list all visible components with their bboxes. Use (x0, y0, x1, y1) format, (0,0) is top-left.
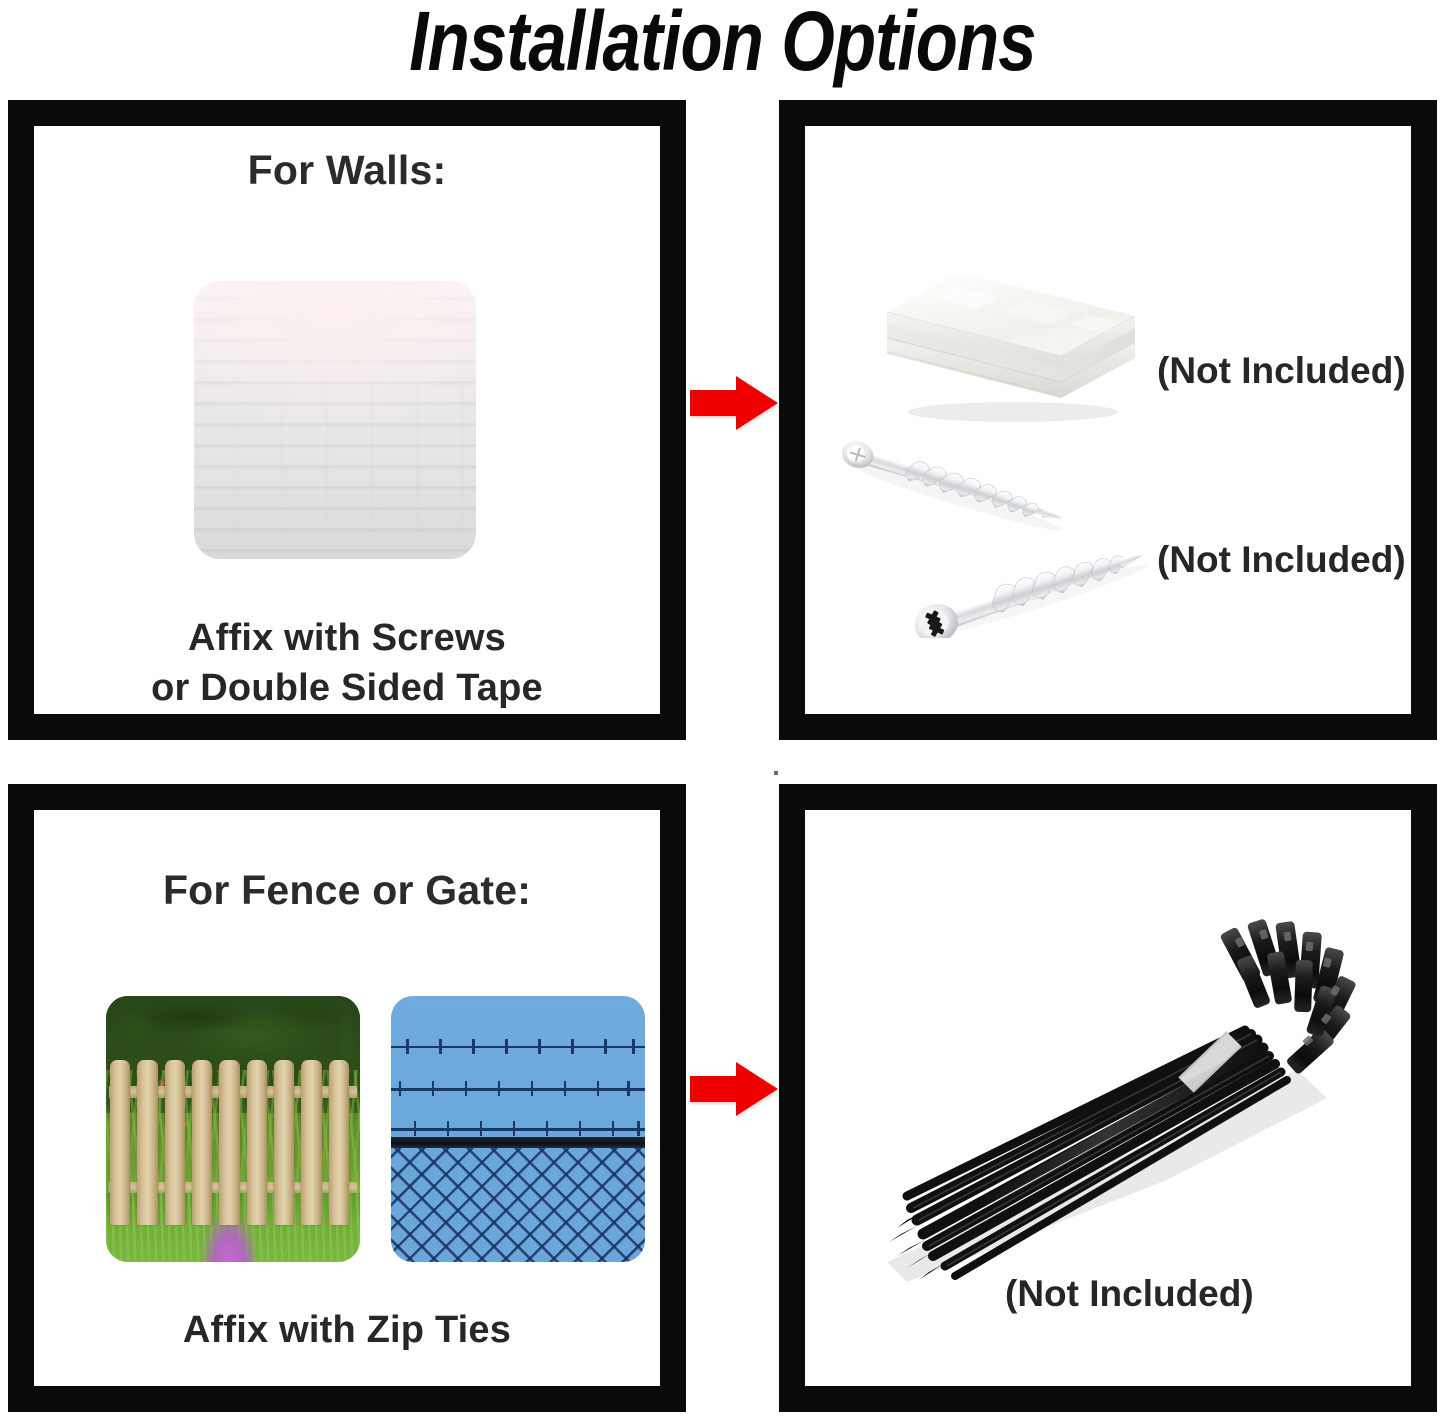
wire-barb (447, 1121, 449, 1136)
wire-barb (571, 1039, 573, 1054)
panel-wall-hardware: (Not Included) (779, 100, 1437, 740)
wire-barb (505, 1039, 507, 1054)
wire-strand (391, 1128, 645, 1130)
black-zip-tie-bundle-image (827, 890, 1357, 1310)
wood-fence-scene (106, 996, 360, 1262)
for-walls-heading: For Walls: (34, 146, 660, 194)
wire-barb (627, 1081, 629, 1096)
wire-barb (632, 1039, 634, 1054)
double-sided-tape-stack-image (873, 246, 1143, 426)
for-fence-heading: For Fence or Gate: (34, 866, 660, 914)
wire-barb (513, 1121, 515, 1136)
wire-barb (531, 1081, 533, 1096)
wire-barb (546, 1121, 548, 1136)
wire-strand (391, 1046, 645, 1048)
wire-barb (637, 1121, 639, 1136)
panel-for-walls-inner: For Walls: Affix with Screws or Double S… (34, 126, 660, 714)
fence-picket (301, 1060, 321, 1225)
wire-barb (538, 1039, 540, 1054)
wire-barb (612, 1121, 614, 1136)
fence-picket (247, 1060, 267, 1225)
wire-barb (472, 1039, 474, 1054)
panel-fence-hardware: (Not Included) (779, 784, 1437, 1412)
wire-barb (432, 1081, 434, 1096)
fence-picket (165, 1060, 185, 1225)
wire-strand (391, 1088, 645, 1090)
chain-link-mesh (391, 1148, 645, 1262)
wall-light-wash (194, 281, 476, 559)
wire-barb (597, 1081, 599, 1096)
screws-image (815, 438, 1175, 638)
fence-picket (137, 1060, 157, 1225)
fence-picket (329, 1060, 349, 1225)
wire-barb (498, 1081, 500, 1096)
white-brick-wall-photo (194, 281, 476, 559)
wire-barb (480, 1121, 482, 1136)
wire-barb (414, 1121, 416, 1136)
fence-picket (274, 1060, 294, 1225)
wire-barb (399, 1081, 401, 1096)
wire-barb (465, 1081, 467, 1096)
tape-not-included-label: (Not Included) (1157, 349, 1406, 393)
panel-fence-hardware-inner: (Not Included) (805, 810, 1411, 1386)
wire-barb (406, 1039, 408, 1054)
for-fence-caption: Affix with Zip Ties (34, 1304, 660, 1356)
picket-row (109, 1060, 358, 1225)
wire-fence-scene (391, 996, 645, 1262)
wooden-picket-fence-photo (106, 996, 360, 1262)
for-walls-caption-line2: or Double Sided Tape (34, 662, 660, 714)
panel-for-fence-inner: For Fence or Gate: (34, 810, 660, 1386)
barbed-wire-strand-2 (391, 1086, 645, 1092)
fence-picket (110, 1060, 130, 1225)
fence-picket (219, 1060, 239, 1225)
fence-picket (192, 1060, 212, 1225)
panel-wall-hardware-inner: (Not Included) (805, 126, 1411, 714)
wire-barb (439, 1039, 441, 1054)
barbed-wire-chain-link-photo (391, 996, 645, 1262)
image-speck-artifact (774, 771, 778, 775)
for-walls-caption-line1: Affix with Screws (34, 612, 660, 664)
page-title: Installation Options (130, 0, 1315, 86)
screws-not-included-label: (Not Included) (1157, 538, 1406, 582)
barbed-wire-strand-3 (391, 1126, 645, 1132)
panel-for-fence-or-gate: For Fence or Gate: (8, 784, 686, 1412)
right-arrow-icon-bottom (688, 1060, 780, 1118)
right-arrow-icon-top (688, 374, 780, 432)
panel-for-walls: For Walls: Affix with Screws or Double S… (8, 100, 686, 740)
ziptie-not-included-label: (Not Included) (1005, 1272, 1254, 1316)
barbed-wire-strand-1 (391, 1044, 645, 1050)
wire-barb (579, 1121, 581, 1136)
wire-barb (604, 1039, 606, 1054)
wire-barb (564, 1081, 566, 1096)
infographic-canvas: Installation Options For Walls: Affix wi… (0, 0, 1445, 1422)
